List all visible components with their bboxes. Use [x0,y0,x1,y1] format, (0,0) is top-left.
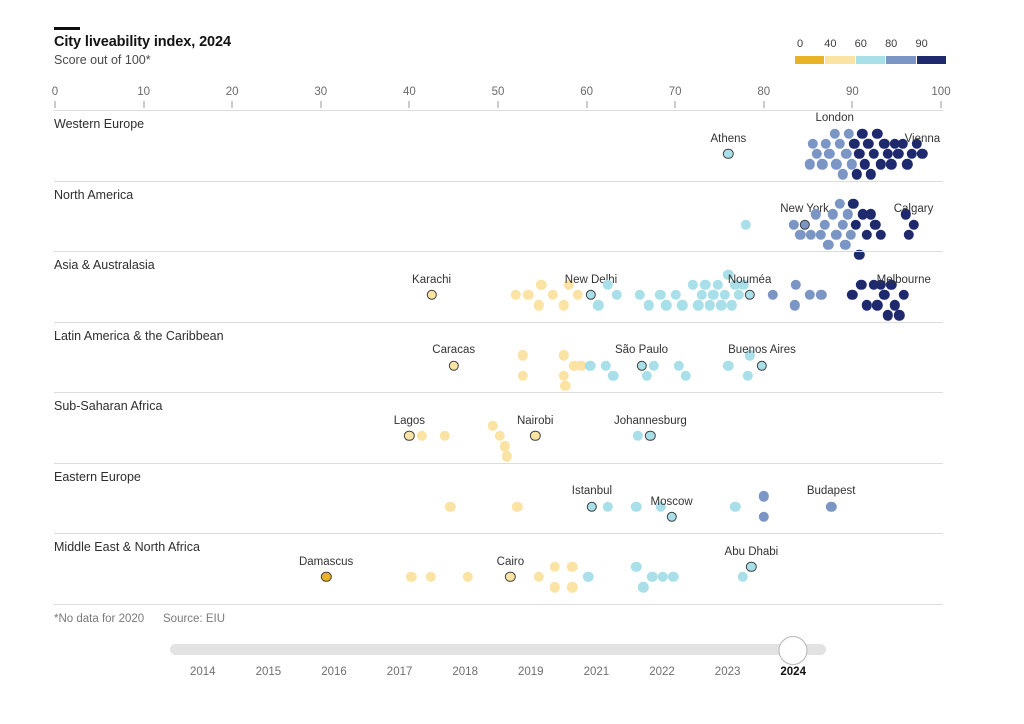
axis-tick-mark [763,101,764,108]
city-dot[interactable] [548,290,558,300]
city-dot[interactable] [759,491,769,501]
city-dot[interactable] [445,501,455,511]
axis-tick-label: 90 [846,86,859,98]
axis-tick-mark [675,101,676,108]
page-title: City liveability index, 2024 [54,34,231,50]
city-dot[interactable] [737,572,747,582]
city-label: São Paulo [615,344,668,356]
slider-year-2017[interactable]: 2017 [387,666,413,678]
city-label: Moscow [651,496,693,508]
axis-tick-label: 20 [226,86,239,98]
city-dot[interactable] [843,209,853,219]
city-dot[interactable] [681,370,691,380]
city-dot[interactable] [713,280,723,290]
axis-tick-mark [55,101,56,108]
city-dot-highlighted[interactable] [636,360,646,370]
city-dot[interactable] [831,159,841,169]
city-dot-highlighted[interactable] [908,219,918,229]
city-dot[interactable] [523,290,533,300]
city-dot[interactable] [558,350,568,360]
city-dot[interactable] [824,149,834,159]
city-dot[interactable] [500,441,510,451]
city-dot[interactable] [720,290,730,300]
city-label: Karachi [412,274,451,286]
beeswarm-plot: Western EuropeAthensLondonViennaNorth Am… [0,110,1024,605]
city-dot[interactable] [894,310,904,320]
city-dot[interactable] [567,562,577,572]
axis-tick-label: 60 [580,86,593,98]
axis-tick-mark [232,101,233,108]
axis-tick-label: 70 [669,86,682,98]
city-dot[interactable] [601,360,611,370]
city-dot[interactable] [805,159,815,169]
city-dot[interactable] [495,431,505,441]
city-dot[interactable] [861,300,871,310]
city-label: Abu Dhabi [725,546,779,558]
city-dot[interactable] [835,139,845,149]
city-dot[interactable] [879,290,889,300]
city-dot[interactable] [883,149,893,159]
city-dot[interactable] [872,300,882,310]
city-dot[interactable] [716,300,726,310]
city-dot[interactable] [879,139,889,149]
city-dot[interactable] [868,149,878,159]
axis-tick-mark [498,101,499,108]
city-dot[interactable] [841,149,851,159]
city-dot[interactable] [518,370,528,380]
city-dot[interactable] [638,582,648,592]
city-label: Nairobi [517,415,553,427]
city-dot[interactable] [837,219,847,229]
legend-label: 40 [824,38,836,50]
city-dot[interactable] [816,290,826,300]
city-dot[interactable] [661,300,671,310]
city-dot[interactable] [677,300,687,310]
city-dot[interactable] [585,360,595,370]
city-dot[interactable] [866,169,876,179]
city-dot[interactable] [872,128,882,138]
city-dot[interactable] [643,300,653,310]
city-label: Calgary [894,203,934,215]
city-dot[interactable] [811,209,821,219]
city-label: Nouméa [728,274,771,286]
region-row: North AmericaNew YorkCalgary [0,181,1024,252]
city-dot[interactable] [812,149,822,159]
city-dot[interactable] [837,169,847,179]
city-dot[interactable] [848,199,858,209]
axis-tick-label: 50 [492,86,505,98]
city-dot[interactable] [705,300,715,310]
slider-year-2016[interactable]: 2016 [321,666,347,678]
city-dot[interactable] [828,209,838,219]
city-dot[interactable] [558,370,568,380]
footer-rule [54,604,943,605]
city-dot-highlighted[interactable] [586,290,596,300]
axis-tick-label: 30 [314,86,327,98]
city-dot[interactable] [723,360,733,370]
city-dot[interactable] [560,381,570,391]
city-dot[interactable] [886,159,896,169]
legend-labels: 040608090 [794,38,946,53]
legend-label: 80 [885,38,897,50]
city-label: Lagos [394,415,425,427]
city-dot[interactable] [635,290,645,300]
city-dot[interactable] [821,139,831,149]
source-note: Source: EIU [163,613,225,625]
city-dot[interactable] [767,290,777,300]
slider-year-2019[interactable]: 2019 [518,666,544,678]
city-dot-highlighted[interactable] [829,128,839,138]
slider-year-2018[interactable]: 2018 [452,666,478,678]
axis-tick-mark [143,101,144,108]
city-dot[interactable] [440,431,450,441]
city-dot[interactable] [904,229,914,239]
city-dot[interactable] [743,370,753,380]
city-dot[interactable] [849,139,859,149]
city-dot-highlighted[interactable] [899,290,909,300]
city-dot[interactable] [851,219,861,229]
legend-label: 0 [797,38,803,50]
city-dot[interactable] [823,240,833,250]
city-dot[interactable] [536,280,546,290]
city-dot-highlighted[interactable] [917,149,927,159]
city-label: Melbourne [877,274,931,286]
city-dot[interactable] [406,572,416,582]
city-dot[interactable] [674,360,684,370]
city-dot[interactable] [583,572,593,582]
color-legend: 040608090 [794,38,946,68]
city-dot-highlighted[interactable] [723,149,733,159]
city-dot-highlighted[interactable] [826,501,836,511]
city-dot[interactable] [861,229,871,239]
slider-thumb[interactable] [779,636,808,665]
city-dot[interactable] [425,572,435,582]
city-dot[interactable] [417,431,427,441]
region-row: Sub-Saharan AfricaLagosNairobiJohannesbu… [0,392,1024,463]
axis-tick-mark [941,101,942,108]
city-dot[interactable] [642,370,652,380]
city-dot[interactable] [511,290,521,300]
city-dot[interactable] [534,572,544,582]
city-dot[interactable] [902,159,912,169]
x-axis: 0102030405060708090100 [0,86,1024,108]
city-dot-highlighted[interactable] [505,572,515,582]
legend-ticks [794,54,946,66]
axis-tick-mark [852,101,853,108]
footnote: *No data for 2020 [54,613,144,625]
legend-label: 60 [855,38,867,50]
city-dot-highlighted[interactable] [746,562,756,572]
axis-tick-mark [409,101,410,108]
city-dot[interactable] [866,209,876,219]
city-dot[interactable] [835,199,845,209]
city-dot[interactable] [820,219,830,229]
city-dot-highlighted[interactable] [448,360,458,370]
city-label: New York [780,203,829,215]
city-dot[interactable] [708,290,718,300]
city-dot[interactable] [795,229,805,239]
slider-year-2023[interactable]: 2023 [715,666,741,678]
region-row: Western EuropeAthensLondonVienna [0,110,1024,181]
region-swarm: KarachiNew DelhiNouméaMelbourne [0,251,1024,322]
city-label: Cairo [497,556,524,568]
city-dot[interactable] [727,300,737,310]
city-label: Athens [710,133,746,145]
city-dot[interactable] [863,139,873,149]
city-dot-highlighted[interactable] [757,360,767,370]
city-dot-highlighted[interactable] [530,431,540,441]
city-dot[interactable] [502,451,512,461]
city-dot[interactable] [907,149,917,159]
city-dot-highlighted[interactable] [799,219,809,229]
city-label: Budapest [807,485,856,497]
slider-year-2021[interactable]: 2021 [584,666,610,678]
legend-tick [794,54,795,66]
axis-tick-label: 100 [931,86,950,98]
region-swarm: New YorkCalgary [0,181,1024,252]
city-dot-highlighted[interactable] [744,290,754,300]
city-dot[interactable] [852,169,862,179]
city-dot-highlighted[interactable] [404,431,414,441]
city-dot[interactable] [633,431,643,441]
slider-year-2024[interactable]: 2024 [780,666,806,678]
city-dot[interactable] [730,501,740,511]
city-dot[interactable] [512,501,522,511]
axis-tick-label: 10 [137,86,150,98]
region-swarm: LagosNairobiJohannesburg [0,392,1024,463]
city-dot[interactable] [890,300,900,310]
city-dot-highlighted[interactable] [321,572,331,582]
city-dot[interactable] [790,280,800,290]
city-dot[interactable] [856,280,866,290]
city-dot[interactable] [870,219,880,229]
city-dot[interactable] [631,501,641,511]
city-dot[interactable] [789,219,799,229]
city-dot[interactable] [612,290,622,300]
city-dot[interactable] [655,290,665,300]
city-label: Damascus [299,556,353,568]
year-slider[interactable]: 2014201520162017201820192021202220232024 [170,640,826,710]
city-dot[interactable] [550,582,560,592]
city-dot-highlighted[interactable] [645,431,655,441]
slider-year-2014[interactable]: 2014 [190,666,216,678]
region-swarm: DamascusCairoAbu Dhabi [0,533,1024,604]
legend-tick [916,54,917,66]
city-dot[interactable] [734,290,744,300]
city-dot[interactable] [876,159,886,169]
city-dot[interactable] [558,300,568,310]
city-dot[interactable] [550,562,560,572]
city-dot-highlighted[interactable] [666,511,676,521]
city-dot[interactable] [700,280,710,290]
city-dot[interactable] [845,229,855,239]
city-dot[interactable] [854,149,864,159]
axis-tick-mark [586,101,587,108]
city-dot[interactable] [857,128,867,138]
city-dot[interactable] [567,582,577,592]
city-dot[interactable] [649,360,659,370]
city-dot[interactable] [688,280,698,290]
slider-year-2015[interactable]: 2015 [256,666,282,678]
legend-tick [824,54,825,66]
city-dot[interactable] [759,511,769,521]
city-label: Caracas [432,344,475,356]
city-dot[interactable] [815,229,825,239]
legend-tick [855,54,856,66]
chart-page: City liveability index, 2024 Score out o… [0,0,1024,724]
city-dot-highlighted[interactable] [426,290,436,300]
city-dot[interactable] [876,229,886,239]
slider-year-labels: 2014201520162017201820192021202220232024 [170,666,826,686]
city-dot[interactable] [831,229,841,239]
city-dot[interactable] [860,159,870,169]
city-dot[interactable] [608,370,618,380]
city-dot[interactable] [671,290,681,300]
region-swarm: CaracasSão PauloBuenos Aires [0,322,1024,393]
city-dot[interactable] [603,501,613,511]
city-dot-highlighted[interactable] [587,501,597,511]
city-dot[interactable] [840,240,850,250]
axis-tick-mark [320,101,321,108]
city-dot[interactable] [846,159,856,169]
city-dot[interactable] [593,300,603,310]
axis-tick-label: 0 [52,86,58,98]
city-dot[interactable] [805,290,815,300]
city-label: Istanbul [572,485,612,497]
region-row: Middle East & North AfricaDamascusCairoA… [0,533,1024,604]
city-dot[interactable] [668,572,678,582]
city-dot[interactable] [518,350,528,360]
city-dot[interactable] [693,300,703,310]
city-dot[interactable] [807,139,817,149]
city-dot[interactable] [658,572,668,582]
city-dot[interactable] [817,159,827,169]
city-dot[interactable] [844,128,854,138]
city-dot[interactable] [741,219,751,229]
region-swarm: AthensLondonVienna [0,110,1024,181]
city-label: Vienna [905,133,941,145]
region-row: Latin America & the CaribbeanCaracasSão … [0,322,1024,393]
city-dot[interactable] [847,290,857,300]
city-dot[interactable] [631,562,641,572]
city-dot[interactable] [534,300,544,310]
city-label: Johannesburg [614,415,687,427]
city-dot[interactable] [883,310,893,320]
city-dot[interactable] [647,572,657,582]
slider-year-2022[interactable]: 2022 [649,666,675,678]
legend-tick [885,54,886,66]
city-dot[interactable] [487,421,497,431]
axis-tick-label: 40 [403,86,416,98]
city-dot[interactable] [893,149,903,159]
city-label: Buenos Aires [728,344,796,356]
axis-tick-label: 80 [757,86,770,98]
city-dot[interactable] [573,290,583,300]
region-row: Asia & AustralasiaKarachiNew DelhiNouméa… [0,251,1024,322]
city-dot[interactable] [790,300,800,310]
city-label: London [815,112,853,124]
region-swarm: IstanbulMoscowBudapest [0,463,1024,534]
city-dot[interactable] [603,280,613,290]
page-subtitle: Score out of 100* [54,53,151,67]
title-rule [54,27,80,30]
legend-label: 90 [915,38,927,50]
region-row: Eastern EuropeIstanbulMoscowBudapest [0,463,1024,534]
slider-track[interactable] [170,644,826,655]
city-dot[interactable] [463,572,473,582]
city-dot[interactable] [697,290,707,300]
